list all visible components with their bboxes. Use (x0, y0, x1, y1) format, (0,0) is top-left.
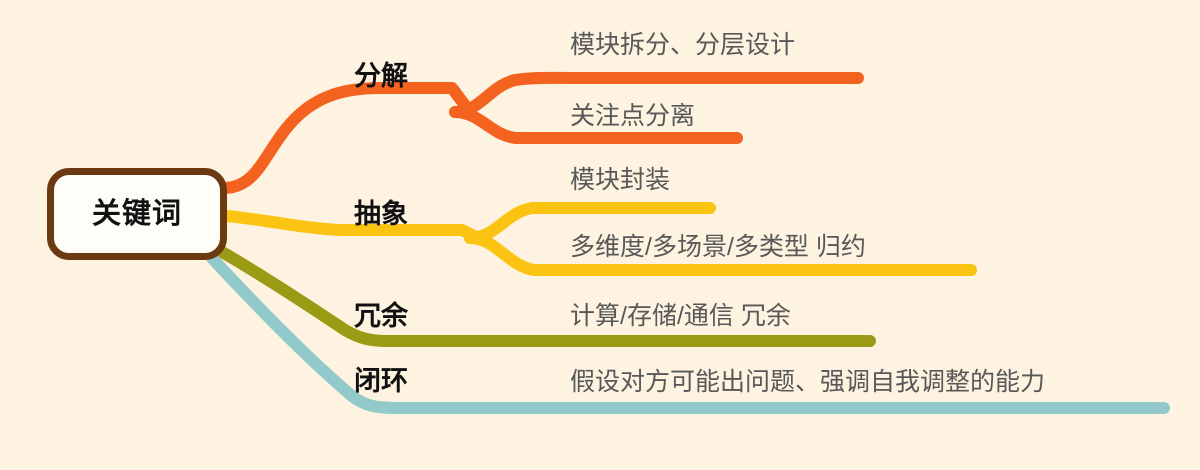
root-node-label: 关键词 (92, 200, 182, 229)
leaf-label-fenjie-1[interactable]: 模块拆分、分层设计 (570, 33, 795, 58)
leaf-label-chouxiang-2[interactable]: 多维度/多场景/多类型 归约 (570, 235, 866, 260)
branch-label-chouxiang[interactable]: 抽象 (354, 201, 408, 228)
branch-line-fenjie-stem (226, 88, 470, 188)
leaf-label-chouxiang-1[interactable]: 模块封装 (570, 168, 670, 193)
branch-label-fenjie[interactable]: 分解 (354, 63, 408, 90)
root-node[interactable]: 关键词 (47, 168, 227, 260)
branch-label-bihuan[interactable]: 闭环 (354, 368, 408, 395)
mindmap-diagram: 关键词 分解 抽象 冗余 闭环 模块拆分、分层设计 关注点分离 模块封装 多维度… (0, 0, 1200, 470)
leaf-label-fenjie-2[interactable]: 关注点分离 (570, 104, 695, 129)
leaf-label-rongyu-1[interactable]: 计算/存储/通信 冗余 (570, 304, 791, 329)
branch-label-rongyu[interactable]: 冗余 (354, 303, 408, 330)
leaf-label-bihuan-1[interactable]: 假设对方可能出问题、强调自我调整的能力 (570, 370, 1045, 395)
